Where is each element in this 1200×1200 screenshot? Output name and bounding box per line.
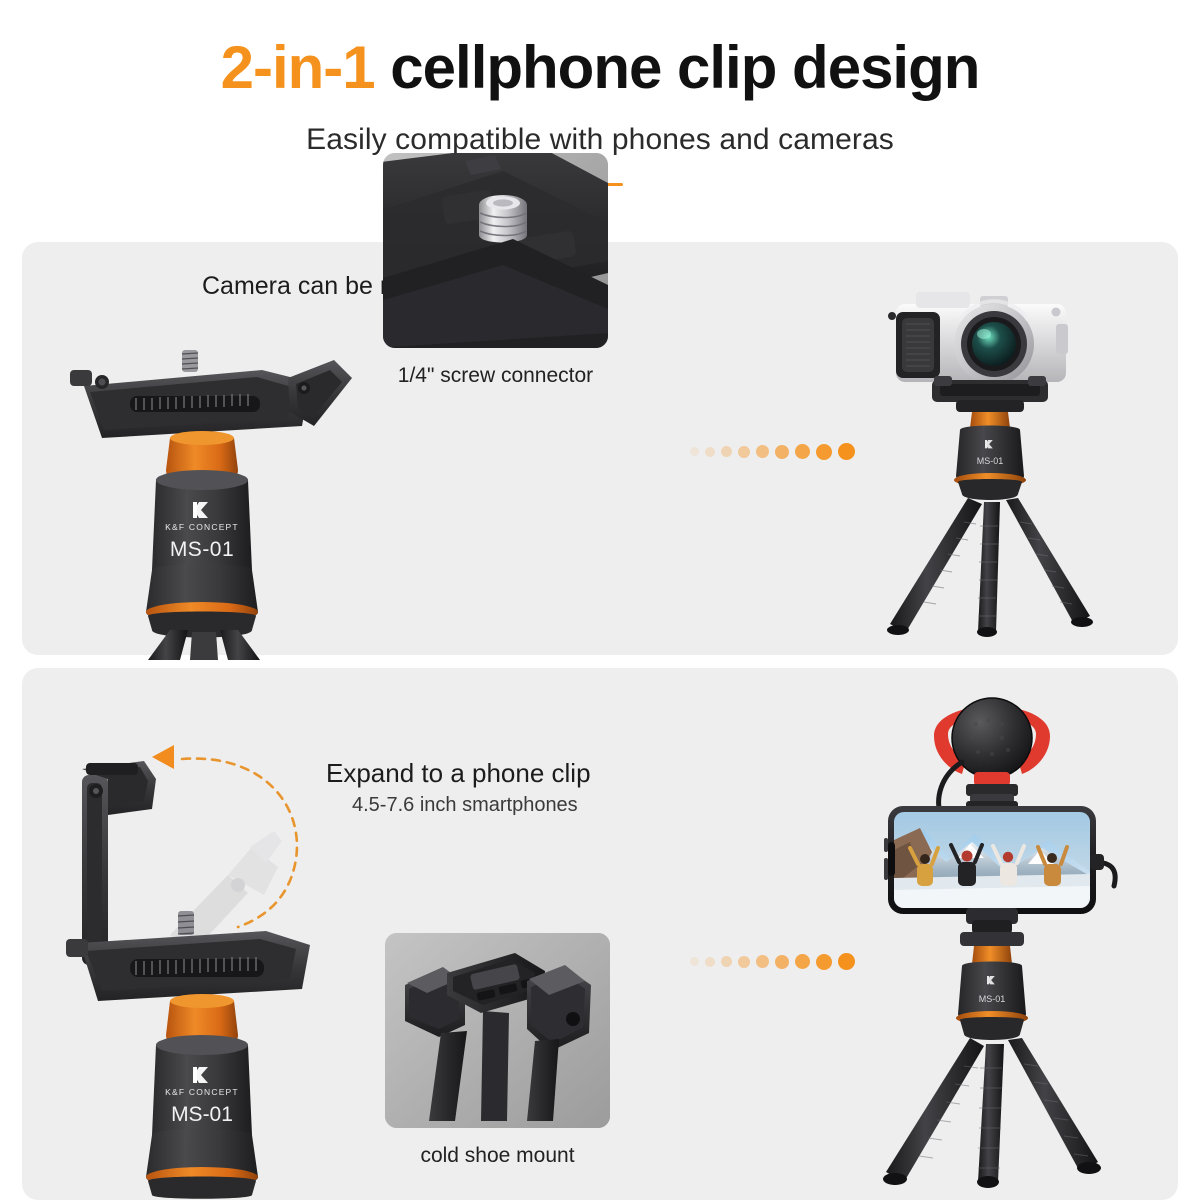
tripod-legs-3 — [883, 1038, 1101, 1188]
trail-dot — [690, 447, 699, 456]
model-name-text: MS-01 — [170, 538, 234, 561]
tripod-with-folded-clip: K&F CONCEPT MS-01 — [52, 330, 372, 660]
model-name-text-2: MS-01 — [171, 1103, 233, 1126]
model-name-text-3: MS-01 — [979, 994, 1006, 1004]
trail-dot — [738, 446, 750, 458]
trail-dot — [738, 956, 750, 968]
trail-dot — [705, 957, 715, 967]
inset-screw-caption: 1/4" screw connector — [383, 364, 608, 388]
trail-dot — [705, 447, 715, 457]
inset-cold-shoe-image — [385, 933, 610, 1128]
trail-dot — [775, 445, 789, 459]
phone-clip-jaws — [960, 908, 1024, 946]
model-name-text-right: MS-01 — [977, 456, 1004, 466]
trail-dot — [690, 957, 699, 966]
page-title: 2-in-1 cellphone clip design — [0, 36, 1200, 101]
product-feature-page: 2-in-1 cellphone clip design Easily comp… — [0, 0, 1200, 1200]
mirrorless-camera — [888, 292, 1068, 384]
trail-dot — [775, 955, 789, 969]
trail-dot — [838, 953, 855, 970]
trail-dot — [838, 443, 855, 460]
trail-dot — [721, 956, 732, 967]
tripod-with-mirrorless-camera: MS-01 — [860, 272, 1120, 652]
phone-clip-arm-raised — [82, 761, 156, 965]
smartphone — [884, 806, 1096, 914]
phone-screen — [894, 812, 1090, 908]
quarter-inch-screw — [182, 350, 198, 372]
tripod-with-raised-phone-clip: K&F CONCEPT MS-01 — [52, 735, 372, 1200]
inset-cold-shoe-mount: cold shoe mount — [385, 933, 610, 1168]
panel-phone-subtitle: 4.5-7.6 inch smartphones — [352, 794, 578, 817]
tripod-base — [146, 564, 258, 638]
screw-glyph — [479, 195, 527, 243]
trail-dot — [756, 445, 769, 458]
folded-phone-clip-arm — [288, 360, 352, 426]
quick-release-plate — [70, 370, 310, 438]
shotgun-microphone — [934, 698, 1050, 814]
ball-head-right: MS-01 — [954, 426, 1026, 501]
tripod-with-phone-and-microphone: MS-01 — [862, 690, 1122, 1200]
inset-cold-shoe-caption: cold shoe mount — [385, 1144, 610, 1168]
ball-head-3: MS-01 — [956, 962, 1028, 1041]
inset-screw-image — [383, 153, 608, 348]
camera-mount-plate — [932, 376, 1048, 412]
trail-dot — [795, 444, 810, 459]
inset-screw-connector: 1/4" screw connector — [383, 153, 608, 388]
dot-trail-panel-2 — [690, 953, 855, 970]
brand-name-text: K&F CONCEPT — [165, 522, 239, 532]
headline-main-text: cellphone clip design — [390, 34, 979, 101]
headline-accent-text: 2-in-1 — [221, 34, 375, 101]
trail-dot — [816, 954, 832, 970]
tripod-base-2 — [146, 1129, 258, 1199]
page-subtitle: Easily compatible with phones and camera… — [0, 123, 1200, 157]
trail-dot — [816, 444, 832, 460]
brand-name-text-2: K&F CONCEPT — [165, 1087, 239, 1097]
tripod-legs-right — [887, 498, 1093, 637]
trail-dot — [795, 954, 810, 969]
trail-dot — [756, 955, 769, 968]
dot-trail-panel-1 — [690, 443, 855, 460]
quarter-inch-screw-2 — [178, 911, 194, 935]
trail-dot — [721, 446, 732, 457]
